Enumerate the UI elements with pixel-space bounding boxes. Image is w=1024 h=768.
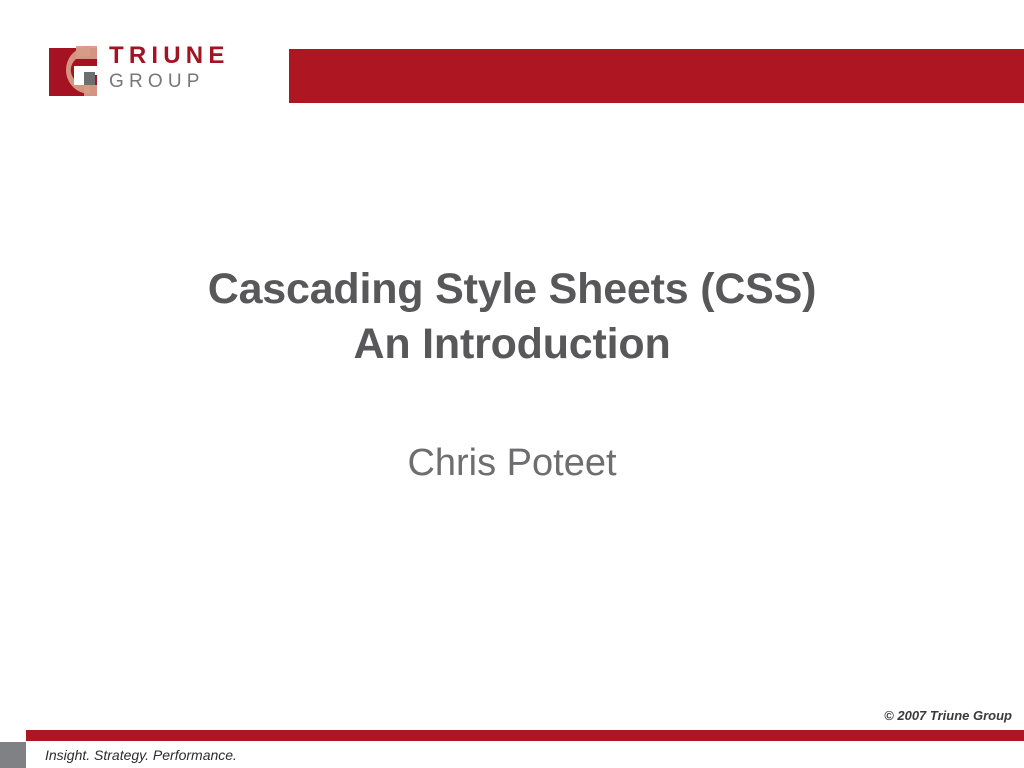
triune-g-monogram-icon bbox=[46, 42, 100, 98]
presentation-slide: TRIUNE GROUP Cascading Style Sheets (CSS… bbox=[0, 0, 1024, 768]
brand-logo: TRIUNE GROUP bbox=[46, 40, 252, 102]
page-title: Cascading Style Sheets (CSS) An Introduc… bbox=[0, 262, 1024, 372]
brand-tagline: Insight. Strategy. Performance. bbox=[45, 745, 237, 765]
footer-accent-bar bbox=[26, 730, 1024, 741]
author-name: Chris Poteet bbox=[0, 438, 1024, 488]
footer-corner-square bbox=[0, 742, 26, 768]
header-accent-bar bbox=[289, 49, 1024, 103]
brand-wordmark: TRIUNE GROUP bbox=[109, 40, 230, 94]
subtitle-container: Chris Poteet bbox=[0, 438, 1024, 488]
brand-name-secondary: GROUP bbox=[109, 70, 230, 94]
copyright-notice: © 2007 Triune Group bbox=[884, 708, 1012, 723]
title-line-1: Cascading Style Sheets (CSS) bbox=[0, 262, 1024, 317]
brand-name-primary: TRIUNE bbox=[109, 43, 230, 68]
title-line-2: An Introduction bbox=[0, 317, 1024, 372]
